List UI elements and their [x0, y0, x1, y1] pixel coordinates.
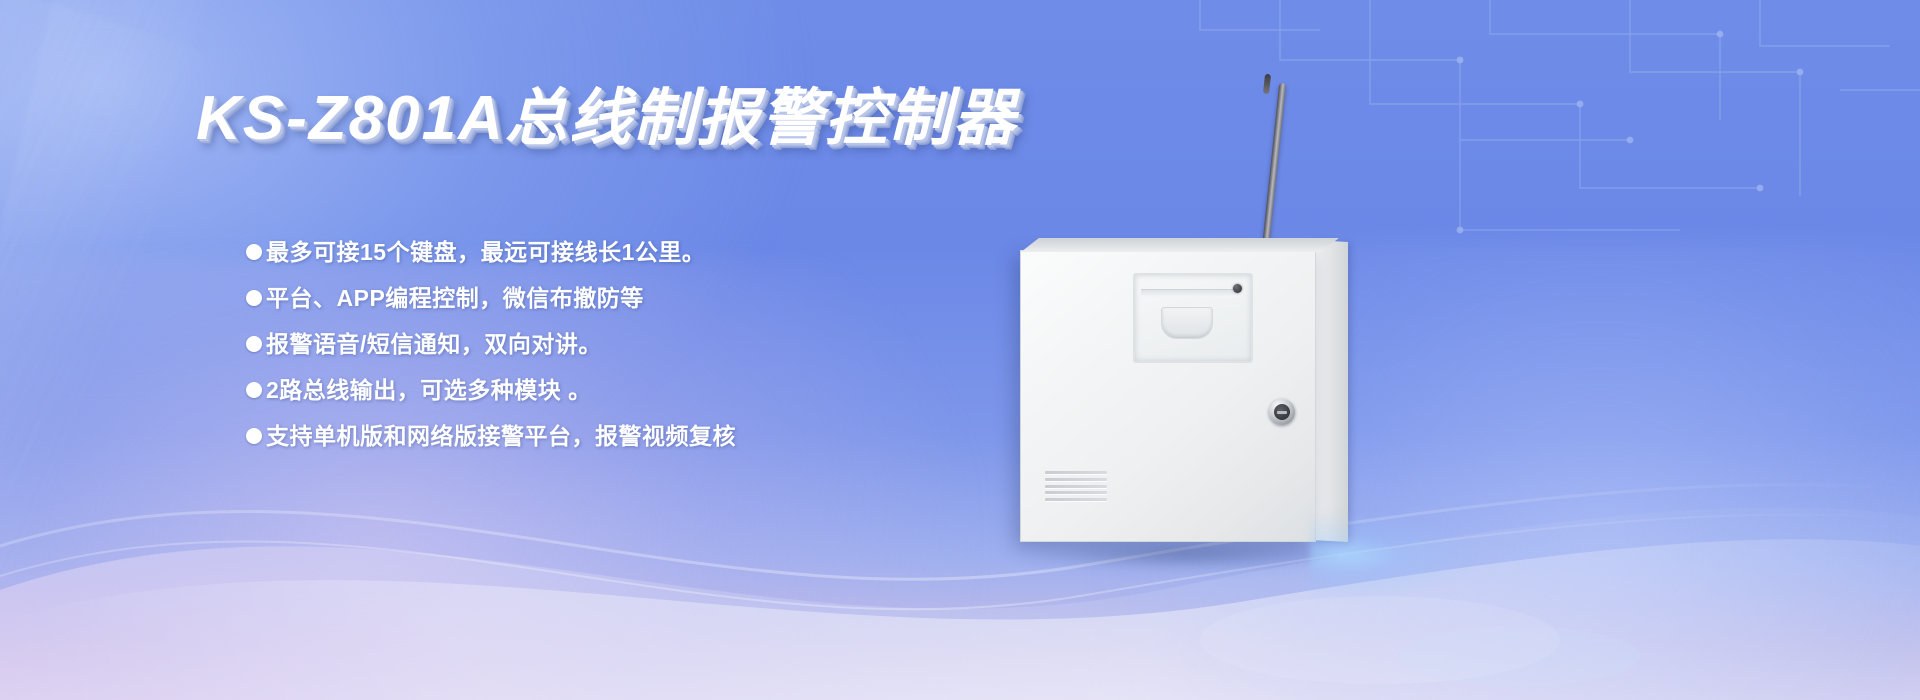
- bullet-dot-icon: [246, 244, 262, 260]
- ventilation-slots: [1045, 471, 1107, 501]
- key-lock-icon: [1269, 399, 1295, 425]
- vent-line: [1045, 471, 1107, 474]
- list-item: 支持单机版和网络版接警平台，报警视频复核: [246, 420, 946, 452]
- vent-line: [1045, 498, 1107, 501]
- product-banner: KS-Z801A总线制报警控制器 最多可接15个键盘，最远可接线长1公里。 平台…: [0, 0, 1920, 700]
- product-image: [1010, 60, 1570, 580]
- drop-shadow: [1016, 546, 1356, 570]
- feature-text: 2路总线输出，可选多种模块 。: [266, 374, 592, 406]
- list-item: 最多可接15个键盘，最远可接线长1公里。: [246, 236, 946, 268]
- bullet-dot-icon: [246, 382, 262, 398]
- vent-line: [1045, 478, 1107, 481]
- panel-slot: [1141, 289, 1239, 297]
- vent-line: [1045, 491, 1107, 494]
- antenna-tip-icon: [1263, 74, 1271, 95]
- list-item: 报警语音/短信通知，双向对讲。: [246, 328, 946, 360]
- alarm-control-panel-enclosure: [1020, 250, 1340, 540]
- recessed-display-panel: [1133, 273, 1253, 363]
- enclosure-side-face: [1312, 240, 1348, 542]
- enclosure-front-face: [1020, 250, 1316, 542]
- door-handle-icon: [1161, 307, 1213, 339]
- bullet-dot-icon: [246, 290, 262, 306]
- key-slot: [1277, 411, 1287, 414]
- feature-text: 平台、APP编程控制，微信布撤防等: [266, 282, 644, 314]
- list-item: 2路总线输出，可选多种模块 。: [246, 374, 946, 406]
- bullet-dot-icon: [246, 336, 262, 352]
- feature-text: 报警语音/短信通知，双向对讲。: [266, 328, 602, 360]
- bullet-dot-icon: [246, 428, 262, 444]
- feature-text: 最多可接15个键盘，最远可接线长1公里。: [266, 236, 705, 268]
- feature-text: 支持单机版和网络版接警平台，报警视频复核: [266, 420, 736, 452]
- status-indicator-icon: [1233, 284, 1242, 293]
- lens-flare: [1310, 510, 1480, 600]
- feature-list: 最多可接15个键盘，最远可接线长1公里。 平台、APP编程控制，微信布撤防等 报…: [246, 236, 946, 466]
- vent-line: [1045, 485, 1107, 488]
- enclosure-top-face: [1021, 238, 1339, 252]
- list-item: 平台、APP编程控制，微信布撤防等: [246, 282, 946, 314]
